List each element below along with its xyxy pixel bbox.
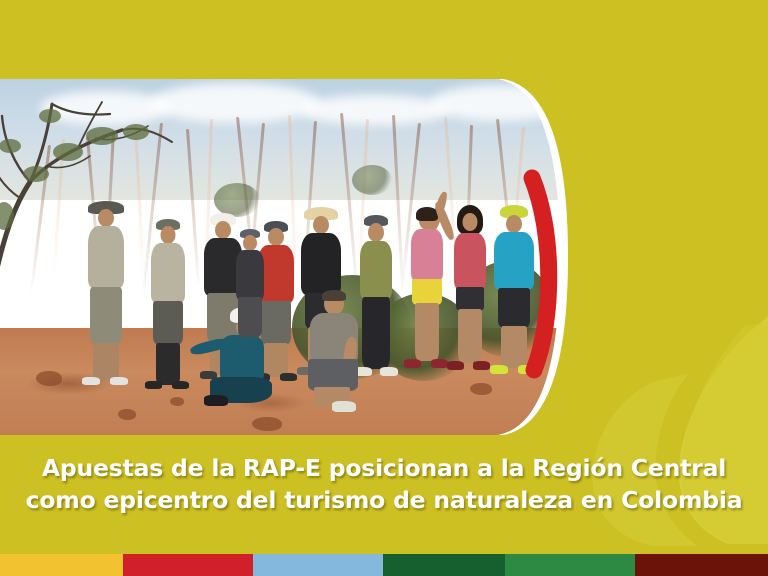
legs — [90, 287, 122, 345]
head — [463, 213, 478, 231]
colorbar-segment-light-blue — [253, 554, 383, 576]
bush — [214, 183, 260, 217]
torso — [301, 233, 341, 295]
person — [230, 229, 270, 349]
legs — [501, 326, 527, 368]
pebble — [36, 371, 62, 386]
colorbar-segment-green — [505, 554, 635, 576]
title-line-1: Apuestas de la RAP-E posicionan a la Reg… — [0, 452, 768, 484]
brand-color-bar — [0, 554, 768, 576]
person-crouching — [288, 293, 374, 415]
bush — [352, 165, 392, 195]
shoe — [490, 365, 508, 374]
shoe — [110, 377, 128, 385]
legs — [156, 343, 180, 385]
shoe — [204, 395, 228, 406]
torso — [454, 233, 486, 289]
shoe — [518, 365, 536, 374]
page-title: Apuestas de la RAP-E posicionan a la Reg… — [0, 452, 768, 516]
legs — [458, 309, 482, 363]
head — [215, 221, 231, 239]
shoe — [145, 381, 162, 389]
shorts — [456, 287, 484, 311]
shoe — [332, 401, 356, 412]
head — [506, 215, 522, 233]
shoe — [404, 359, 421, 368]
torso — [494, 232, 534, 290]
head — [368, 223, 384, 242]
title-line-2: como epicentro del turismo de naturaleza… — [0, 484, 768, 516]
head — [98, 209, 114, 227]
legs — [498, 288, 530, 328]
colorbar-segment-dark-green — [383, 554, 505, 576]
person — [486, 205, 542, 393]
torso — [88, 226, 124, 288]
pebble — [118, 409, 136, 420]
torso — [236, 250, 264, 300]
head — [313, 216, 329, 234]
hair — [322, 290, 346, 301]
legs — [415, 303, 439, 361]
head — [243, 235, 257, 251]
shoe — [380, 367, 398, 376]
cloud — [430, 85, 570, 121]
torso — [151, 243, 185, 303]
cloud — [300, 95, 450, 125]
head — [268, 228, 284, 246]
colorbar-segment-yellow — [0, 554, 123, 576]
torso — [360, 241, 392, 299]
pebble — [252, 417, 282, 431]
hero-photo — [0, 79, 576, 435]
legs — [153, 301, 183, 345]
pebble — [170, 397, 184, 406]
head — [161, 226, 176, 244]
photo-canvas — [0, 79, 576, 435]
shoe — [82, 377, 100, 385]
cloud — [40, 91, 170, 125]
torso — [411, 229, 443, 281]
banner-root: Apuestas de la RAP-E posicionan a la Reg… — [0, 0, 768, 576]
legs — [93, 343, 119, 381]
colorbar-segment-dark-red — [635, 554, 768, 576]
person — [78, 201, 134, 391]
cloud — [150, 83, 320, 123]
photo-clip — [0, 79, 576, 435]
legs — [238, 297, 262, 337]
shoe — [447, 361, 464, 370]
shorts — [412, 279, 442, 305]
colorbar-segment-red — [123, 554, 253, 576]
